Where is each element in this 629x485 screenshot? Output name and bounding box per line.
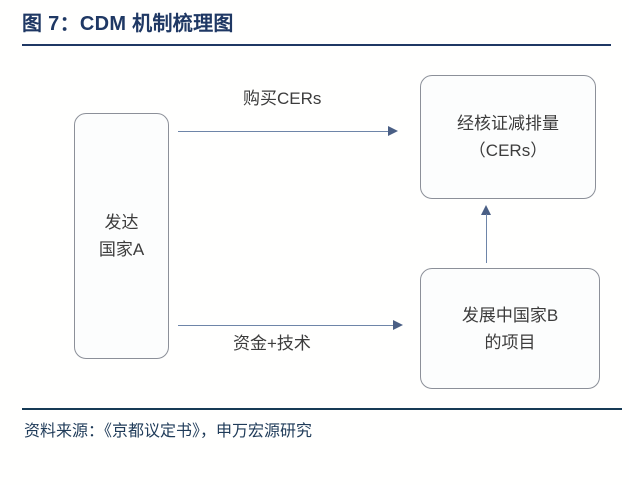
edge-label-funds-tech: 资金+技术 — [233, 333, 311, 355]
diagram-node-label: 发达 国家A — [99, 209, 144, 263]
diagram-node-cers: 经核证减排量 （CERs） — [420, 75, 596, 199]
arrow-shaft — [178, 131, 389, 132]
arrow-head-right-icon — [393, 320, 403, 330]
diagram-node-label: 经核证减排量 （CERs） — [457, 110, 559, 164]
figure-container: 图 7：CDM 机制梳理图 发达 国家A 经核证减排量 （CERs） 发展中国家… — [0, 0, 629, 485]
arrow-funds-tech — [178, 320, 403, 331]
edge-label-buy-cers: 购买CERs — [243, 88, 321, 110]
title-divider — [22, 44, 611, 46]
source-note: 资料来源：《京都议定书》，申万宏源研究 — [24, 420, 312, 444]
arrow-head-right-icon — [388, 126, 398, 136]
arrow-shaft — [486, 214, 487, 263]
arrow-shaft — [178, 325, 394, 326]
footer-divider — [22, 408, 622, 410]
arrow-cers-issued — [481, 205, 492, 263]
diagram-node-label: 发展中国家B 的项目 — [462, 302, 558, 356]
cdm-flow-diagram: 发达 国家A 经核证减排量 （CERs） 发展中国家B 的项目 购买CERs 资… — [0, 50, 629, 405]
page-title: 图 7：CDM 机制梳理图 — [22, 11, 234, 37]
diagram-node-developing-project: 发展中国家B 的项目 — [420, 268, 600, 389]
arrow-buy-cers — [178, 126, 398, 137]
diagram-node-developed-country: 发达 国家A — [74, 113, 169, 359]
